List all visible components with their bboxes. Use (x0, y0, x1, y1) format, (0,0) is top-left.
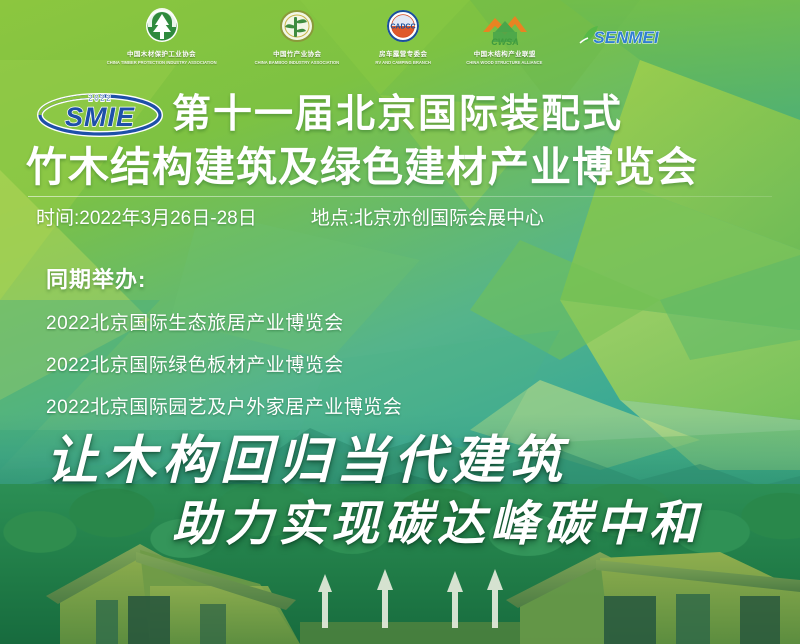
event-venue: 地点:北京亦创国际会展中心 (311, 203, 544, 230)
title-line-2: 竹木结构建筑及绿色建材产业博览会 (0, 146, 800, 189)
logo-subcaption: CHINA WOOD STRUCTURE ALLIANCE (467, 60, 543, 65)
logo-subcaption: CHINA TIMBER PROTECTION INDUSTRY ASSOCIA… (107, 60, 217, 65)
cadcc-rv-camping-committee-logo: CADCC 房车露营专委会 RV AND CAMPING BRANCH (373, 7, 433, 65)
smie-acronym: SMIE (65, 102, 135, 133)
logo-subcaption: CHINA BAMBOO INDUSTRY ASSOCIATION (255, 60, 339, 65)
event-date: 时间:2022年3月26日-28日 (36, 203, 257, 230)
svg-text:SENMEI: SENMEI (593, 28, 659, 47)
concurrent-event-item: 2022北京国际生态旅居产业博览会 (46, 308, 686, 335)
senmei-logo: SENMEI (576, 7, 668, 65)
pine-tree-in-circle-icon (140, 8, 184, 48)
house-roof-icon: CWSA (479, 8, 531, 48)
logo-subcaption: RV AND CAMPING BRANCH (376, 60, 431, 65)
cwsa-wood-structure-alliance-logo: CWSA 中国木结构产业联盟 CHINA WOOD STRUCTURE ALLI… (463, 7, 546, 65)
headline-line-1: 2022 SMIE 第十一届北京国际装配式 (0, 88, 800, 140)
logo-caption: 中国竹产业协会 (273, 49, 321, 58)
logo-caption: 中国木材保护工业协会 (127, 49, 196, 58)
exhibition-poster: 中国木材保护工业协会 CHINA TIMBER PROTECTION INDUS… (0, 0, 800, 644)
leaf-wordmark-icon: SENMEI (576, 21, 668, 51)
svg-text:CADCC: CADCC (391, 23, 416, 30)
headline-block: 2022 SMIE 第十一届北京国际装配式 竹木结构建筑及绿色建材产业博览会 (0, 88, 800, 189)
title-line-1: 第十一届北京国际装配式 (172, 95, 623, 134)
slogan-line-2: 助力实现碳达峰碳中和 (172, 484, 702, 554)
svg-text:CWSA: CWSA (491, 37, 519, 47)
bamboo-in-oval-icon (276, 8, 318, 48)
headline-divider (28, 196, 772, 197)
organizer-logo-strip: 中国木材保护工业协会 CHINA TIMBER PROTECTION INDUS… (0, 0, 800, 72)
bamboo-association-logo: 中国竹产业协会 CHINA BAMBOO INDUSTRY ASSOCIATIO… (251, 7, 343, 65)
logo-caption: 中国木结构产业联盟 (474, 49, 536, 58)
china-timber-protection-association-logo: 中国木材保护工业协会 CHINA TIMBER PROTECTION INDUS… (102, 7, 221, 65)
cadcc-roundel-icon: CADCC (382, 8, 424, 48)
concurrent-event-item: 2022北京国际绿色板材产业博览会 (46, 350, 686, 377)
slogan-line-1: 让木构回归当代建筑 (46, 418, 568, 493)
date-venue-row: 时间:2022年3月26日-28日 地点:北京亦创国际会展中心 (36, 203, 776, 230)
concurrent-heading: 同期举办: (46, 262, 686, 294)
concurrent-events-block: 同期举办: 2022北京国际生态旅居产业博览会 2022北京国际绿色板材产业博览… (46, 262, 686, 434)
logo-caption: 房车露营专委会 (379, 49, 427, 58)
smie-event-logo: 2022 SMIE (36, 91, 164, 137)
concurrent-event-item: 2022北京国际园艺及户外家居产业博览会 (46, 392, 686, 419)
